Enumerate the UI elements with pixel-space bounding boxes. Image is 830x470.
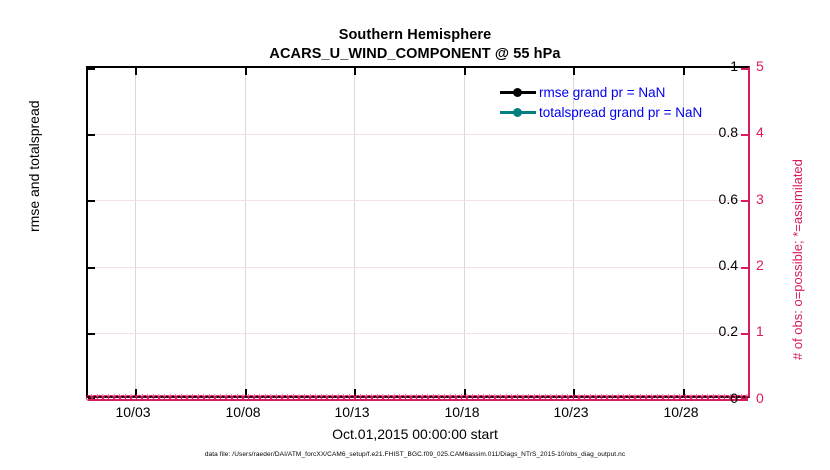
- gridline-horizontal: [88, 200, 748, 201]
- gridline-vertical: [464, 68, 465, 396]
- tick-right: [741, 267, 748, 269]
- ytick-label-left: 0.8: [719, 124, 738, 140]
- ytick-label-right: 1: [756, 323, 764, 339]
- gridline-vertical: [245, 68, 246, 396]
- gridline-horizontal: [88, 267, 748, 268]
- ytick-label-right: 2: [756, 257, 764, 273]
- xtick-label: 10/23: [553, 404, 588, 420]
- obs-assimilated-marker: *: [744, 396, 750, 402]
- tick-right: [741, 68, 748, 70]
- tick-top: [354, 68, 356, 75]
- tick-left: [88, 68, 95, 70]
- ytick-label-right: 3: [756, 191, 764, 207]
- plot-area: ****************************************…: [86, 66, 750, 398]
- legend-marker-totalspread: [500, 105, 536, 119]
- chart-title-variable: ACARS_U_WIND_COMPONENT @ 55 hPa: [0, 45, 830, 64]
- ytick-label-right: 0: [756, 390, 764, 406]
- xtick-label: 10/18: [444, 404, 479, 420]
- chart-title-region: Southern Hemisphere: [0, 26, 830, 45]
- gridline-vertical: [135, 68, 136, 396]
- tick-left: [88, 134, 95, 136]
- legend-item-rmse: rmse grand pr = NaN: [500, 82, 746, 102]
- chart-page: Southern Hemisphere ACARS_U_WIND_COMPONE…: [0, 0, 830, 470]
- ytick-label-left: 1: [730, 58, 738, 74]
- tick-left: [88, 267, 95, 269]
- legend-item-totalspread: totalspread grand pr = NaN: [500, 102, 746, 122]
- chart-title: Southern Hemisphere ACARS_U_WIND_COMPONE…: [0, 26, 830, 64]
- legend-label-rmse: rmse grand pr = NaN: [536, 85, 665, 100]
- xtick-label: 10/28: [663, 404, 698, 420]
- y-axis-label-right: # of obs: o=possible; *=assimilated: [790, 159, 805, 360]
- ytick-label-right: 5: [756, 58, 764, 74]
- gridline-horizontal: [88, 333, 748, 334]
- tick-right: [741, 200, 748, 202]
- data-file-footer: data file: /Users/raeder/DAI/ATM_forcXX/…: [0, 451, 830, 458]
- tick-right: [741, 134, 748, 136]
- xtick-label: 10/13: [334, 404, 369, 420]
- xtick-label: 10/08: [225, 404, 260, 420]
- tick-top: [573, 68, 575, 75]
- tick-top: [135, 68, 137, 75]
- ytick-label-left: 0.6: [719, 191, 738, 207]
- xtick-label: 10/03: [115, 404, 150, 420]
- tick-right: [741, 333, 748, 335]
- tick-top: [245, 68, 247, 75]
- ytick-label-left: 0.4: [719, 257, 738, 273]
- tick-top: [464, 68, 466, 75]
- x-axis-label: Oct.01,2015 00:00:00 start: [0, 426, 830, 442]
- ytick-label-left: 0.2: [719, 323, 738, 339]
- tick-left: [88, 200, 95, 202]
- tick-left: [88, 333, 95, 335]
- ytick-label-left: 0: [730, 390, 738, 406]
- ytick-label-right: 4: [756, 124, 764, 140]
- y-axis-label-left: rmse and totalspread: [26, 100, 42, 232]
- legend-label-totalspread: totalspread grand pr = NaN: [536, 105, 702, 120]
- gridline-horizontal: [88, 134, 748, 135]
- obs-marker-band: ****************************************…: [88, 389, 748, 401]
- chart-legend: rmse grand pr = NaN totalspread grand pr…: [500, 82, 746, 122]
- legend-marker-rmse: [500, 85, 536, 99]
- gridline-vertical: [354, 68, 355, 396]
- tick-top: [683, 68, 685, 75]
